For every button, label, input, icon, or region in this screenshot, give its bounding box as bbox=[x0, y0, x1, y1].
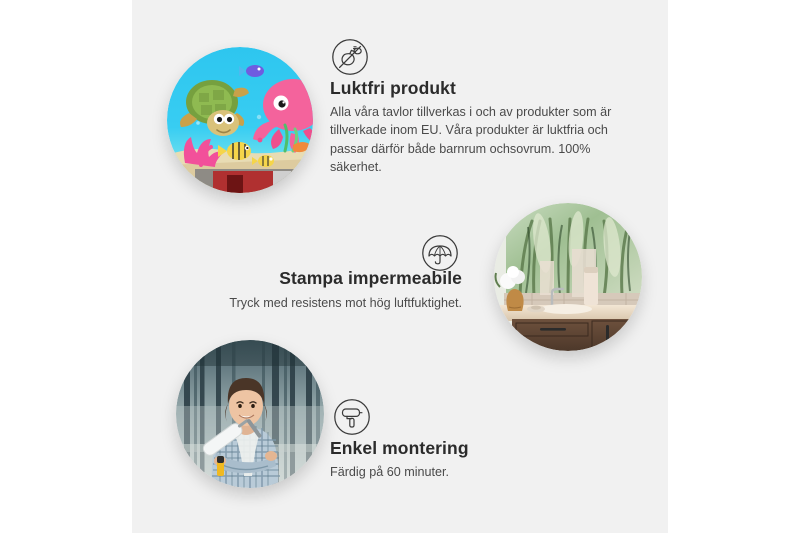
feature-image-underwater-cartoon-mural bbox=[167, 47, 313, 193]
feature-title: Stampa impermeabile bbox=[180, 268, 462, 290]
feature-text-luktfri-produkt: Luktfri produkt Alla våra tavlor tillver… bbox=[330, 78, 620, 176]
promo-graphic: Luktfri produkt Alla våra tavlor tillver… bbox=[0, 0, 800, 533]
feature-title: Enkel montering bbox=[330, 438, 610, 460]
feature-text-stampa-impermeabile: Stampa impermeabile Tryck med resistens … bbox=[180, 268, 462, 312]
feature-title: Luktfri produkt bbox=[330, 78, 620, 100]
umbrella-icon bbox=[421, 234, 459, 272]
feature-text-enkel-montering: Enkel montering Färdig på 60 minuter. bbox=[330, 438, 610, 481]
feature-body: Färdig på 60 minuter. bbox=[330, 463, 610, 481]
feature-image-woman-with-paint-roller-forest-mural bbox=[176, 340, 324, 488]
feature-body: Alla våra tavlor tillverkas i och av pro… bbox=[330, 103, 620, 177]
no-fragrance-icon bbox=[331, 38, 369, 76]
feature-body: Tryck med resistens mot hög luftfuktighe… bbox=[180, 294, 462, 312]
feature-image-bathroom-botanical-wallpaper bbox=[494, 203, 642, 351]
paint-roller-icon bbox=[333, 398, 371, 436]
